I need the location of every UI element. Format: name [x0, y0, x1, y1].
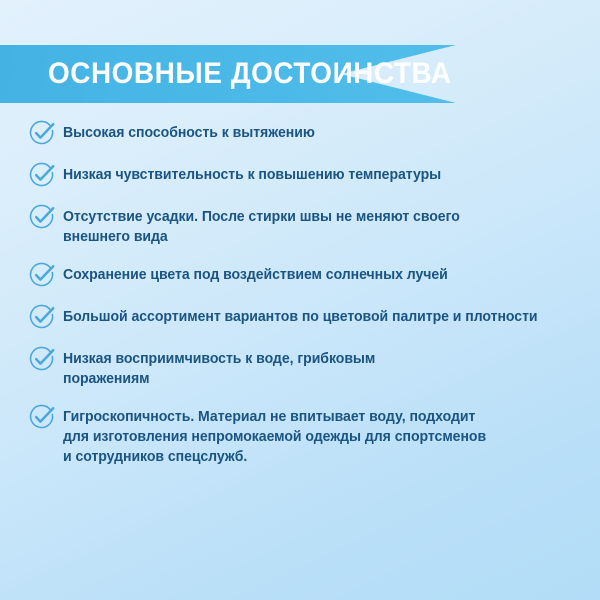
list-item: Отсутствие усадки. После стирки швы не м… — [28, 206, 584, 247]
banner: ОСНОВНЫЕ ДОСТОИНСТВА — [0, 45, 456, 103]
check-circle-icon — [28, 203, 56, 231]
benefits-list: Высокая способность к вытяжению Низкая ч… — [28, 122, 584, 484]
list-item-label: Сохранение цвета под воздействием солнеч… — [63, 264, 448, 285]
list-item-label: Отсутствие усадки. После стирки швы не м… — [63, 206, 460, 247]
check-circle-icon — [28, 119, 56, 147]
check-circle-icon — [28, 345, 56, 373]
page-title: ОСНОВНЫЕ ДОСТОИНСТВА — [48, 45, 452, 103]
list-item: Большой ассортимент вариантов по цветово… — [28, 306, 584, 331]
promo-poster: ОСНОВНЫЕ ДОСТОИНСТВА Высокая способность… — [0, 0, 600, 600]
check-circle-icon — [28, 303, 56, 331]
list-item-label: Низкая восприимчивость к воде, грибковым… — [63, 348, 375, 389]
list-item-label: Высокая способность к вытяжению — [63, 122, 315, 143]
check-circle-icon — [28, 403, 56, 431]
list-item-label: Низкая чувствительность к повышению темп… — [63, 164, 441, 185]
list-item-label: Большой ассортимент вариантов по цветово… — [63, 306, 538, 327]
list-item: Высокая способность к вытяжению — [28, 122, 584, 147]
list-item: Низкая чувствительность к повышению темп… — [28, 164, 584, 189]
list-item: Низкая восприимчивость к воде, грибковым… — [28, 348, 584, 389]
list-item-label: Гигроскопичность. Материал не впитывает … — [63, 406, 486, 467]
check-circle-icon — [28, 161, 56, 189]
list-item: Гигроскопичность. Материал не впитывает … — [28, 406, 584, 467]
list-item: Сохранение цвета под воздействием солнеч… — [28, 264, 584, 289]
check-circle-icon — [28, 261, 56, 289]
